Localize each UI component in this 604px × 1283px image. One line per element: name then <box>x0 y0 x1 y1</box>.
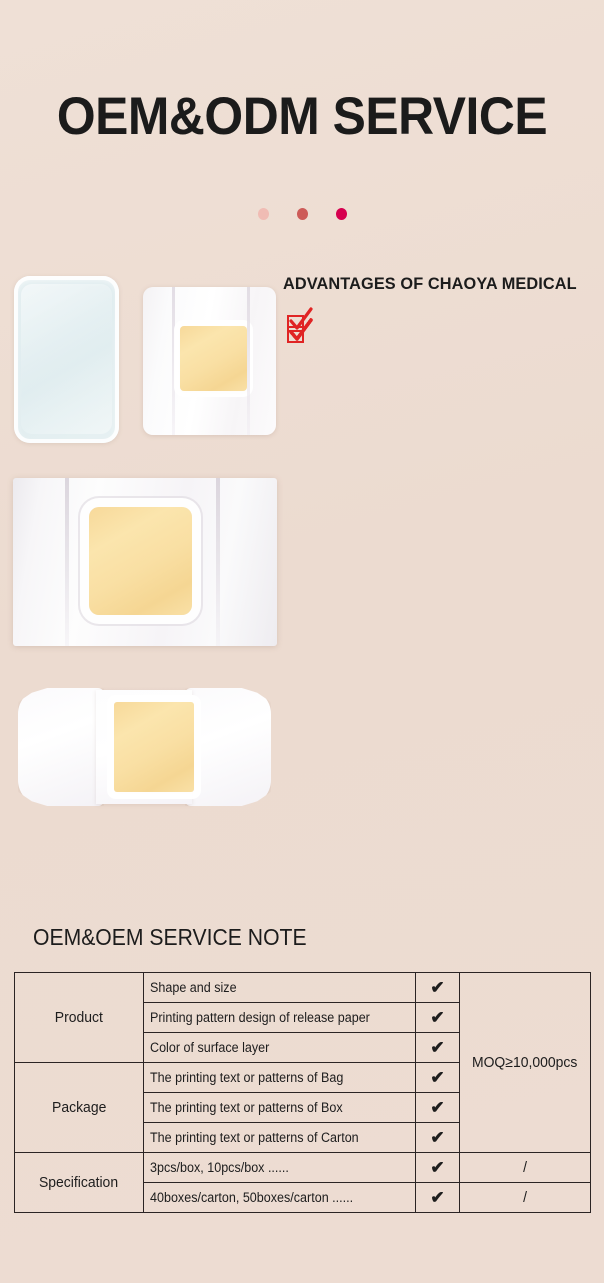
dot-3-icon <box>336 208 347 220</box>
check-mark-icon: ✔ <box>416 1123 460 1153</box>
gel-window <box>114 702 194 792</box>
table-row: Specification3pcs/box, 10pcs/box ......✔… <box>15 1153 591 1183</box>
item-cell: The printing text or patterns of Carton <box>144 1123 416 1153</box>
page-title: OEM&ODM SERVICE <box>18 86 586 147</box>
category-cell: Product <box>15 973 144 1063</box>
item-cell: The printing text or patterns of Box <box>144 1093 416 1123</box>
oem-odm-service-page: OEM&ODM SERVICE ADVANTAGES OF CHAOYA MED… <box>0 0 604 1283</box>
check-mark-icon: ✔ <box>416 1153 460 1183</box>
product-image-shaped-wavy-patch <box>18 688 271 806</box>
table-row: ProductShape and size✔MOQ≥10,000pcs <box>15 973 591 1003</box>
gel-window <box>180 326 247 391</box>
check-mark-icon: ✔ <box>416 1003 460 1033</box>
moq-cell: MOQ≥10,000pcs <box>460 973 591 1153</box>
check-mark-icon: ✔ <box>416 973 460 1003</box>
moq-cell: / <box>460 1183 591 1213</box>
gel-window <box>89 507 192 615</box>
check-mark-icon: ✔ <box>416 1063 460 1093</box>
checkbox-checked-icon <box>287 326 304 343</box>
patch-left-lobe <box>18 688 104 806</box>
service-note-table: ProductShape and size✔MOQ≥10,000pcsPrint… <box>14 972 591 1213</box>
dot-indicator <box>0 208 604 220</box>
item-cell: Shape and size <box>144 973 416 1003</box>
advantages-list <box>283 312 599 323</box>
check-mark-icon: ✔ <box>416 1033 460 1063</box>
dot-2-icon <box>297 208 308 220</box>
service-note-heading: OEM&OEM SERVICE NOTE <box>33 924 307 951</box>
item-cell: Color of surface layer <box>144 1033 416 1063</box>
product-image-wide-sachet-pad <box>13 478 277 646</box>
category-cell: Specification <box>15 1153 144 1213</box>
item-cell: 3pcs/box, 10pcs/box ...... <box>144 1153 416 1183</box>
item-cell: 40boxes/carton, 50boxes/carton ...... <box>144 1183 416 1213</box>
category-cell: Package <box>15 1063 144 1153</box>
check-mark-icon: ✔ <box>416 1093 460 1123</box>
dot-1-icon <box>258 208 269 220</box>
moq-cell: / <box>460 1153 591 1183</box>
item-cell: Printing pattern design of release paper <box>144 1003 416 1033</box>
check-mark-icon: ✔ <box>416 1183 460 1213</box>
product-image-translucent-film-pad <box>14 276 119 443</box>
item-cell: The printing text or patterns of Bag <box>144 1063 416 1093</box>
advantages-heading: ADVANTAGES OF CHAOYA MEDICAL <box>283 274 577 294</box>
patch-right-lobe <box>185 688 271 806</box>
product-image-square-sachet-pad <box>143 287 276 435</box>
